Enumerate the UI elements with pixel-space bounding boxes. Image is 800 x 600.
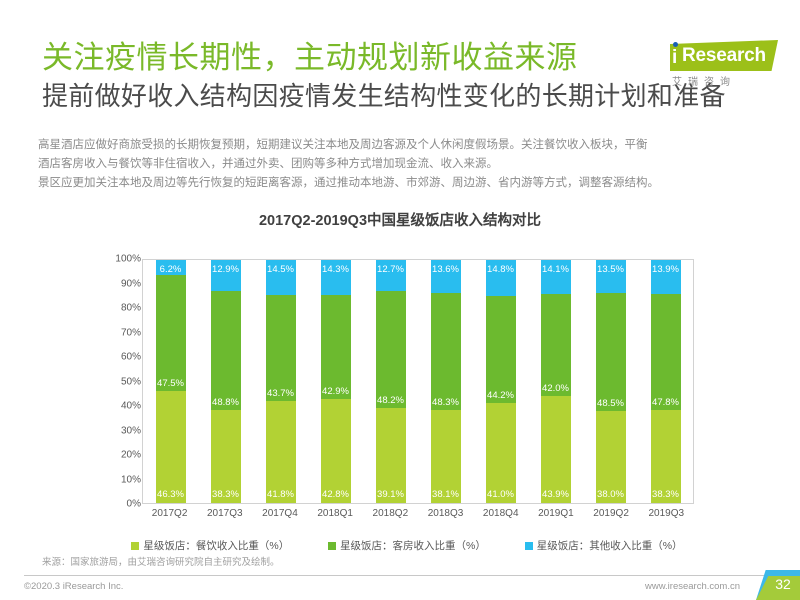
copyright-text: ©2020.3 iResearch Inc.	[24, 581, 123, 592]
bar-segment-label: 39.1%	[376, 489, 406, 500]
y-axis-tick: 40%	[107, 401, 141, 412]
bar-segment[interactable]: 42.0%	[541, 294, 571, 396]
bar-segment-label: 43.7%	[266, 388, 296, 399]
bar-segment-label: 48.3%	[431, 397, 461, 408]
bar-column[interactable]: 13.6%48.3%38.1%	[431, 260, 461, 503]
bar-segment-label: 47.5%	[156, 378, 186, 389]
bar-segment[interactable]: 41.0%	[486, 403, 516, 503]
x-axis-tick: 2018Q4	[473, 508, 528, 519]
bar-column[interactable]: 14.1%42.0%43.9%	[541, 260, 571, 503]
bar-segment-label: 48.5%	[596, 398, 626, 409]
bar-segment-label: 38.3%	[651, 489, 681, 500]
stacked-bar-chart: 100%90%80%70%60%50%40%30%20%10%0% 6.2%47…	[112, 250, 702, 510]
page-number-badge: 32	[750, 570, 800, 600]
bar-segment-label: 13.6%	[431, 264, 461, 275]
legend-label: 星级饭店：客房收入比重（%）	[340, 538, 486, 553]
page-title-secondary: 提前做好收入结构因疫情发生结构性变化的长期计划和准备	[42, 78, 758, 114]
y-axis-tick: 50%	[107, 376, 141, 387]
x-axis-tick: 2019Q2	[584, 508, 639, 519]
bar-segment-label: 12.7%	[376, 264, 406, 275]
legend-label: 星级饭店：餐饮收入比重（%）	[143, 538, 289, 553]
bar-segment-label: 13.9%	[651, 264, 681, 275]
legend-item[interactable]: 星级饭店：客房收入比重（%）	[328, 538, 486, 553]
iresearch-logo: i Research 艾瑞咨询	[662, 40, 780, 96]
logo-wordmark: Research	[682, 45, 766, 67]
bar-segment-label: 14.8%	[486, 264, 516, 275]
bar-column[interactable]: 13.9%47.8%38.3%	[651, 260, 681, 503]
bar-segment[interactable]: 47.5%	[156, 275, 186, 390]
bar-segment-label: 14.5%	[266, 264, 296, 275]
bar-segment[interactable]: 43.9%	[541, 396, 571, 503]
bar-segment[interactable]: 12.9%	[211, 260, 241, 291]
y-axis-tick: 30%	[107, 425, 141, 436]
bar-segment[interactable]: 14.8%	[486, 260, 516, 296]
bar-segment[interactable]: 44.2%	[486, 296, 516, 403]
bar-segment-label: 46.3%	[156, 489, 186, 500]
bar-segment[interactable]: 48.8%	[211, 291, 241, 410]
y-axis-tick: 90%	[107, 278, 141, 289]
bar-column[interactable]: 12.9%48.8%38.3%	[211, 260, 241, 503]
body-line-1: 高星酒店应做好商旅受损的长期恢复预期，短期建议关注本地及周边客源及个人休闲度假场…	[38, 136, 766, 155]
page-title-primary: 关注疫情长期性，主动规划新收益来源	[42, 38, 758, 78]
y-axis-tick: 80%	[107, 303, 141, 314]
bar-segment-label: 38.1%	[431, 489, 461, 500]
bar-segment-label: 42.9%	[321, 386, 351, 397]
bar-segment[interactable]: 48.2%	[376, 291, 406, 408]
bar-segment[interactable]: 12.7%	[376, 260, 406, 291]
bar-segment-label: 42.0%	[541, 383, 571, 394]
x-axis-tick: 2019Q1	[528, 508, 583, 519]
bar-segment[interactable]: 41.8%	[266, 401, 296, 503]
body-line-2: 酒店客房收入与餐饮等非住宿收入，并通过外卖、团购等多种方式增加现金流、收入来源。	[38, 155, 766, 174]
bar-segment[interactable]: 13.5%	[596, 260, 626, 293]
y-axis-tick: 70%	[107, 327, 141, 338]
legend-swatch-icon	[328, 542, 336, 550]
bar-segment-label: 14.1%	[541, 264, 571, 275]
footer-divider	[24, 575, 776, 576]
y-axis-tick: 10%	[107, 474, 141, 485]
body-paragraphs: 高星酒店应做好商旅受损的长期恢复预期，短期建议关注本地及周边客源及个人休闲度假场…	[38, 136, 766, 193]
website-url: www.iresearch.com.cn	[620, 581, 740, 592]
slide-header: 关注疫情长期性，主动规划新收益来源 提前做好收入结构因疫情发生结构性变化的长期计…	[42, 38, 758, 114]
y-axis-tick: 0%	[107, 499, 141, 510]
legend-swatch-icon	[525, 542, 533, 550]
bar-segment-label: 41.8%	[266, 489, 296, 500]
bar-column[interactable]: 14.3%42.9%42.8%	[321, 260, 351, 503]
bar-segment-label: 13.5%	[596, 264, 626, 275]
x-axis-tick: 2019Q3	[639, 508, 694, 519]
plot-area: 6.2%47.5%46.3%12.9%48.8%38.3%14.5%43.7%4…	[142, 259, 694, 504]
x-axis-tick: 2017Q4	[252, 508, 307, 519]
bar-segment[interactable]: 14.5%	[266, 260, 296, 295]
bar-segment[interactable]: 42.8%	[321, 399, 351, 503]
bar-segment[interactable]: 14.1%	[541, 260, 571, 294]
bar-segment[interactable]: 38.3%	[651, 410, 681, 503]
bar-segment-label: 48.2%	[376, 395, 406, 406]
bar-segment[interactable]: 38.1%	[431, 410, 461, 503]
bar-column[interactable]: 14.8%44.2%41.0%	[486, 260, 516, 503]
body-line-3: 景区应更加关注本地及周边等先行恢复的短距离客源，通过推动本地游、市郊游、周边游、…	[38, 174, 766, 193]
bar-segment[interactable]: 38.0%	[596, 411, 626, 503]
bar-segment[interactable]: 46.3%	[156, 391, 186, 504]
bar-segment[interactable]: 48.3%	[431, 293, 461, 410]
bar-column[interactable]: 13.5%48.5%38.0%	[596, 260, 626, 503]
y-axis-tick: 60%	[107, 352, 141, 363]
bar-segment[interactable]: 48.5%	[596, 293, 626, 411]
x-axis-tick: 2018Q1	[308, 508, 363, 519]
bar-segment[interactable]: 6.2%	[156, 260, 186, 275]
legend-item[interactable]: 星级饭店：其他收入比重（%）	[525, 538, 683, 553]
x-axis-tick: 2018Q3	[418, 508, 473, 519]
bar-segment[interactable]: 47.8%	[651, 294, 681, 410]
bar-segment-label: 48.8%	[211, 397, 241, 408]
logo-chinese-name: 艾瑞咨询	[672, 73, 772, 88]
bar-segment[interactable]: 42.9%	[321, 295, 351, 399]
y-axis-tick: 100%	[107, 254, 141, 265]
bar-segment-label: 47.8%	[651, 397, 681, 408]
legend-swatch-icon	[131, 542, 139, 550]
x-axis-tick: 2018Q2	[363, 508, 418, 519]
bar-segment-label: 14.3%	[321, 264, 351, 275]
legend-item[interactable]: 星级饭店：餐饮收入比重（%）	[131, 538, 289, 553]
bar-segment-label: 38.3%	[211, 489, 241, 500]
bar-segment-label: 43.9%	[541, 489, 571, 500]
chart-legend: 星级饭店：餐饮收入比重（%）星级饭店：客房收入比重（%）星级饭店：其他收入比重（…	[112, 538, 702, 553]
bar-segment[interactable]: 14.3%	[321, 260, 351, 295]
y-axis: 100%90%80%70%60%50%40%30%20%10%0%	[112, 250, 146, 510]
bar-segment-label: 42.8%	[321, 489, 351, 500]
x-axis-tick: 2017Q2	[142, 508, 197, 519]
bar-segment-label: 6.2%	[156, 264, 186, 275]
legend-label: 星级饭店：其他收入比重（%）	[537, 538, 683, 553]
bar-segment-label: 41.0%	[486, 489, 516, 500]
bar-segment-label: 12.9%	[211, 264, 241, 275]
bar-column[interactable]: 6.2%47.5%46.3%	[156, 260, 186, 503]
x-axis: 2017Q22017Q32017Q42018Q12018Q22018Q32018…	[142, 508, 694, 519]
bar-column[interactable]: 14.5%43.7%41.8%	[266, 260, 296, 503]
chart-title: 2017Q2-2019Q3中国星级饭店收入结构对比	[0, 209, 800, 230]
bar-segment-label: 44.2%	[486, 390, 516, 401]
bar-segment[interactable]: 13.6%	[431, 260, 461, 293]
bar-column[interactable]: 12.7%48.2%39.1%	[376, 260, 406, 503]
y-axis-tick: 20%	[107, 450, 141, 461]
logo-letter-i: i	[672, 48, 677, 67]
bar-segment[interactable]: 39.1%	[376, 408, 406, 503]
bar-segment-label: 38.0%	[596, 489, 626, 500]
page-number: 32	[770, 576, 796, 592]
x-axis-tick: 2017Q3	[197, 508, 252, 519]
bar-segment[interactable]: 43.7%	[266, 295, 296, 401]
source-note: 来源：国家旅游局，由艾瑞咨询研究院自主研究及绘制。	[42, 554, 280, 568]
bar-segment[interactable]: 13.9%	[651, 260, 681, 294]
bar-segment[interactable]: 38.3%	[211, 410, 241, 503]
